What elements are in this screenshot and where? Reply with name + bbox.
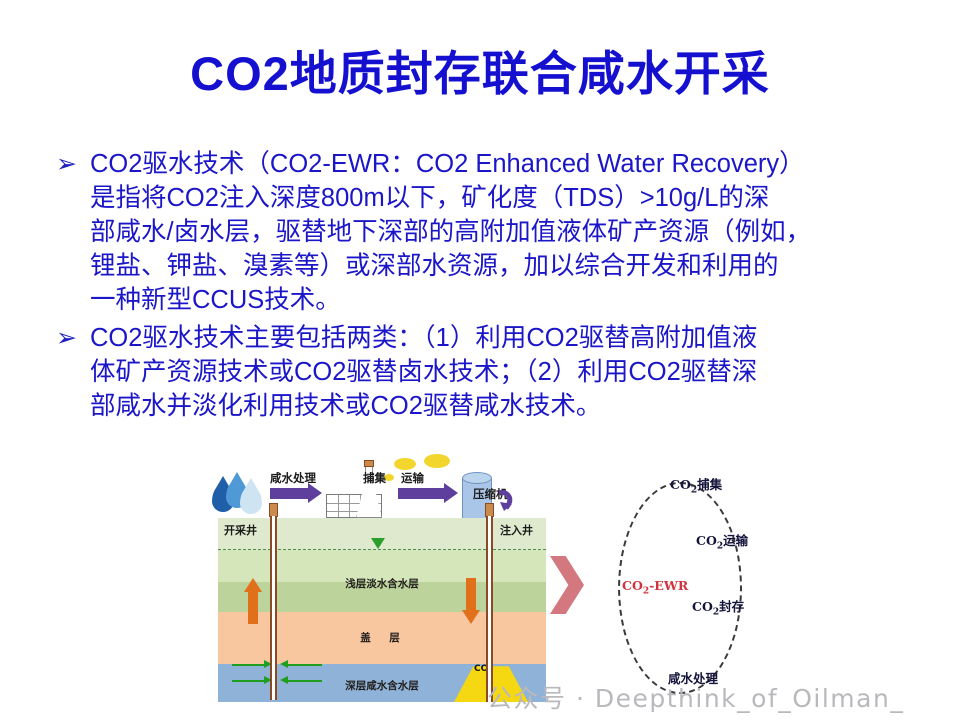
water-drop-icon [240, 486, 262, 514]
production-well [270, 516, 277, 700]
transport-arrow-icon [398, 488, 458, 499]
injection-well-label: 注入井 [500, 522, 533, 538]
surface-facilities: 咸水处理 捕集 运输 [198, 452, 598, 522]
shallow-aquifer-label: 浅层淡水含水层 [218, 576, 546, 591]
cycle-node-co2-transport: CO2运输 [696, 530, 748, 552]
bullet-1-line-3: 部咸水/卤水层，驱替地下深部的高附加值液体矿产资源（例如， [90, 215, 916, 249]
bullet-item-1: ➢ CO2驱水技术（CO2-EWR：CO2 Enhanced Water Rec… [56, 147, 916, 317]
ccus-schematic-figure: 咸水处理 捕集 运输 [198, 452, 858, 714]
co2-puff-icon [394, 458, 416, 470]
cycle-center-label: CO2-EWR [622, 578, 688, 597]
bullet-2-line-1: CO2驱水技术主要包括两类：（1）利用CO2驱替高附加值液 [90, 321, 916, 355]
cycle-node-co2-storage: CO2封存 [692, 596, 744, 618]
body-content: ➢ CO2驱水技术（CO2-EWR：CO2 Enhanced Water Rec… [56, 147, 916, 427]
page-title: CO2地质封存联合咸水开采 [0, 48, 960, 100]
injection-hook-icon [496, 490, 516, 512]
bullet-1-line-1: CO2驱水技术（CO2-EWR：CO2 Enhanced Water Recov… [90, 147, 916, 181]
bullet-text-1: CO2驱水技术（CO2-EWR：CO2 Enhanced Water Recov… [90, 147, 916, 317]
bullet-1-line-2: 是指将CO2注入深度800m以下，矿化度（TDS）>10g/L的深 [90, 181, 916, 215]
production-well-label: 开采井 [224, 522, 257, 538]
bullet-2-line-3: 部咸水并淡化利用技术或CO2驱替咸水技术。 [90, 389, 916, 423]
bullet-text-2: CO2驱水技术主要包括两类：（1）利用CO2驱替高附加值液 体矿产资源技术或CO… [90, 321, 916, 423]
cycle-node-co2-capture: CO2捕集 [670, 474, 722, 496]
slide-root: CO2地质封存联合咸水开采 ➢ CO2驱水技术（CO2-EWR：CO2 Enha… [0, 0, 960, 720]
transport-label: 运输 [401, 470, 424, 486]
water-table-line [218, 549, 546, 550]
brine-inflow-arrows-icon [232, 658, 322, 690]
bullet-marker-icon: ➢ [56, 147, 90, 181]
watermark: 公众号 · Deepthink_of_Oilman_ [487, 679, 904, 715]
water-drops-icon [212, 472, 264, 514]
bullet-1-line-4: 锂盐、钾盐、溴素等）或深部水资源，加以综合开发和利用的 [90, 249, 916, 283]
cap-rock-label: 盖 层 [218, 630, 546, 645]
subsurface-cross-section: 浅层淡水含水层 盖 层 深层咸水含水层 CO2 [218, 518, 546, 702]
bullet-1-line-5: 一种新型CCUS技术。 [90, 283, 916, 317]
production-wellhead-icon [269, 503, 278, 517]
injection-wellhead-icon [485, 503, 494, 517]
chevron-right-icon [550, 556, 584, 614]
bullet-marker-icon: ➢ [56, 321, 90, 355]
water-table-marker-icon [371, 538, 385, 549]
co2-injection-arrow-icon [462, 578, 480, 624]
bullet-2-line-2: 体矿产资源技术或CO2驱替卤水技术；（2）利用CO2驱替深 [90, 355, 916, 389]
co2-ewr-cycle-diagram: CO2捕集 CO2运输 CO2封存 咸水处理 CO2-EWR [598, 474, 858, 704]
bullet-item-2: ➢ CO2驱水技术主要包括两类：（1）利用CO2驱替高附加值液 体矿产资源技术或… [56, 321, 916, 423]
treatment-arrow-icon [270, 488, 322, 499]
capture-label: 捕集 [363, 470, 386, 486]
water-production-arrow-icon [244, 578, 262, 624]
injection-well [486, 516, 493, 702]
co2-puff-icon [424, 454, 450, 468]
